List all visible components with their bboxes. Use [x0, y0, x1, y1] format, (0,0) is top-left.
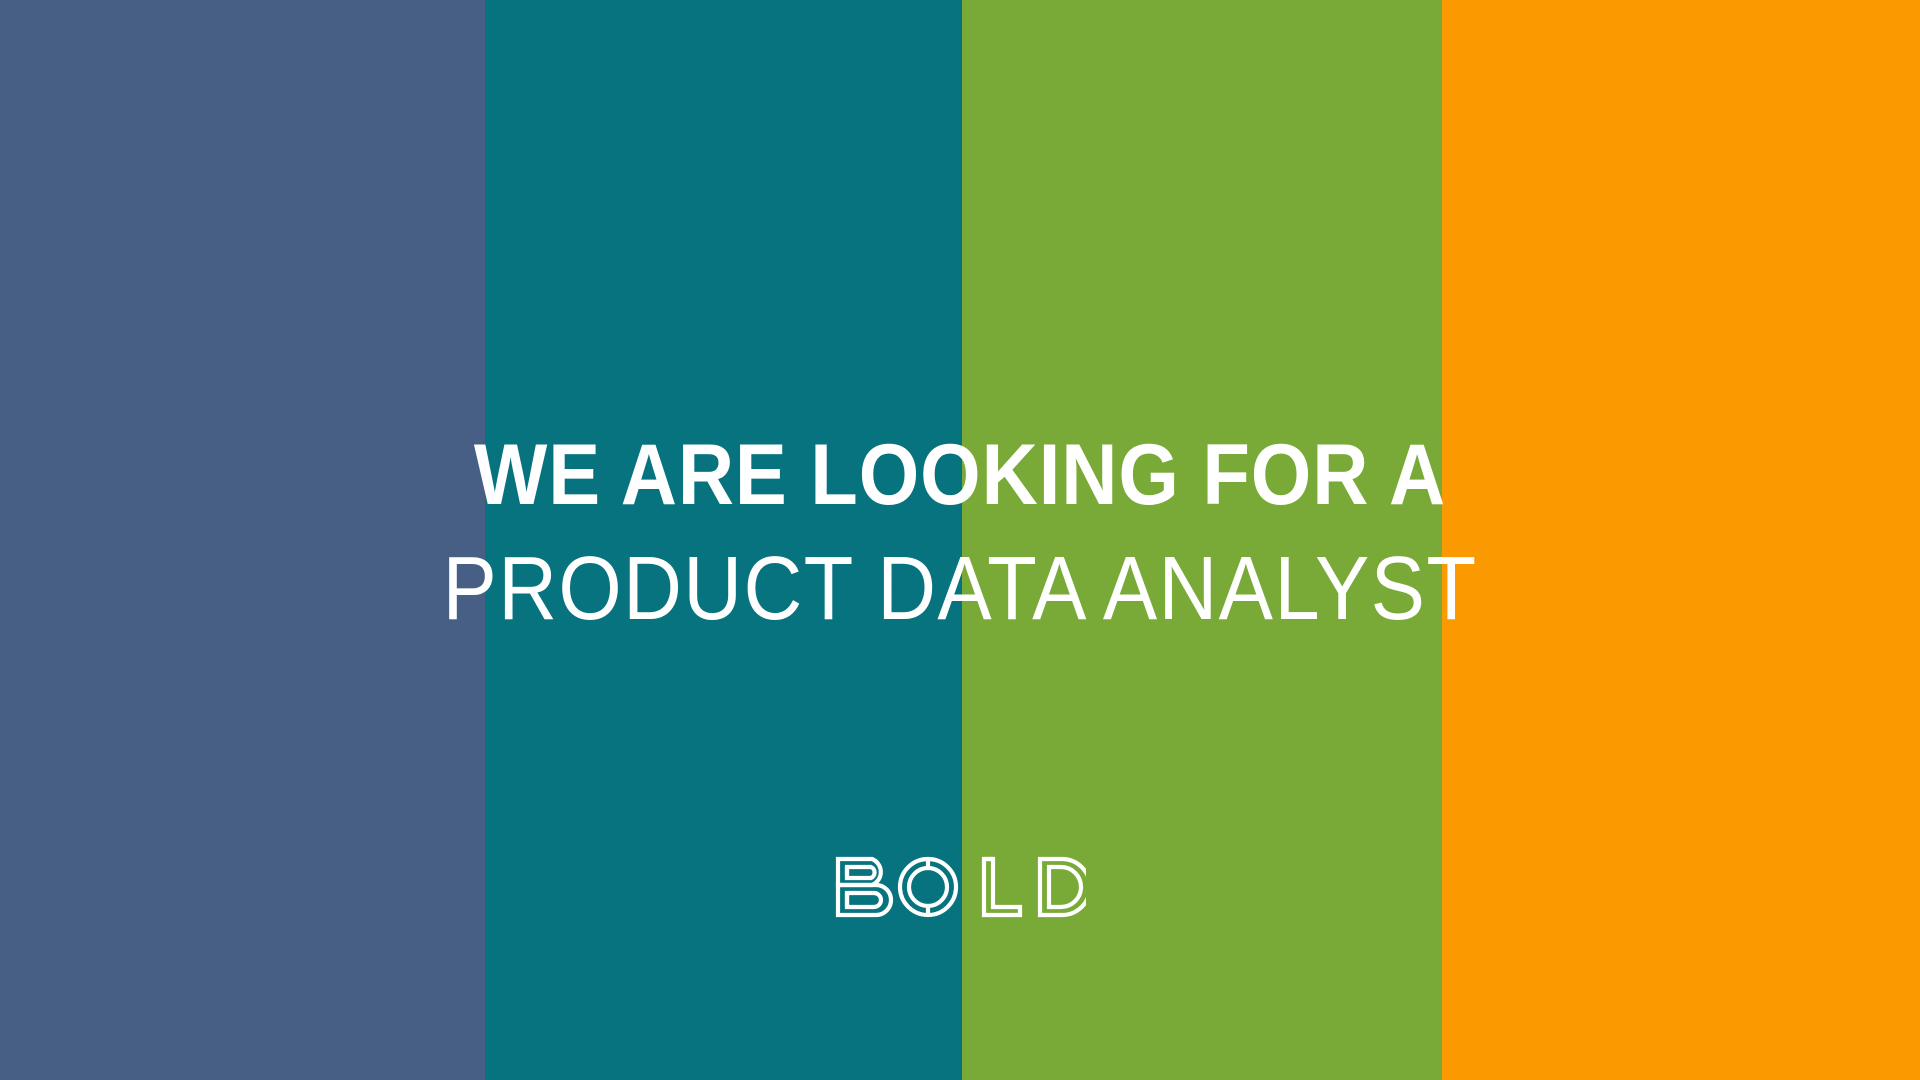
bold-logo: BOLD — [0, 855, 1920, 919]
headline-line-1: WE ARE LOOKING FOR A — [91, 432, 1829, 518]
job-posting-poster: WE ARE LOOKING FOR A PRODUCT DATA ANALYS… — [0, 0, 1920, 1080]
bold-logo-letter-b — [838, 859, 891, 915]
bold-logo-letter-l — [984, 859, 1020, 915]
bold-logo-mark — [834, 855, 1086, 919]
headline-block: WE ARE LOOKING FOR A PRODUCT DATA ANALYS… — [0, 432, 1920, 634]
bold-logo-letter-o — [900, 859, 956, 915]
bold-logo-letter-d — [1040, 859, 1086, 915]
headline-line-2: PRODUCT DATA ANALYST — [91, 544, 1829, 634]
